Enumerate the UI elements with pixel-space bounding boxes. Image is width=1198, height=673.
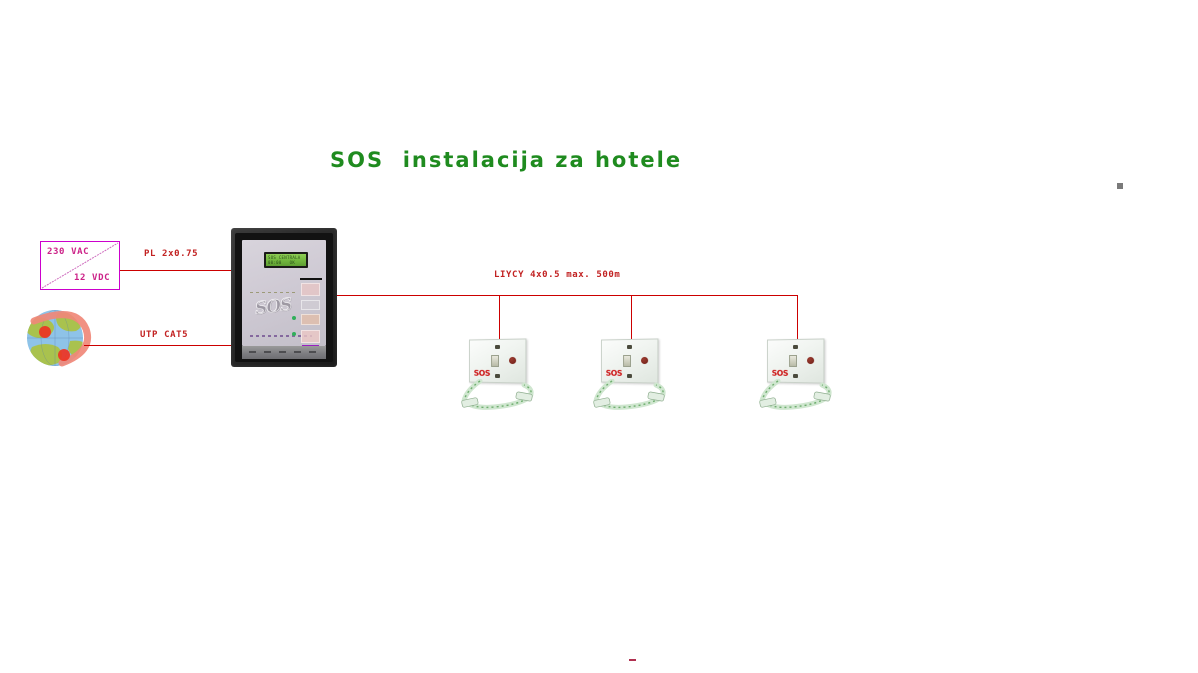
psu-input-voltage-label: 230 VAC (47, 247, 89, 257)
wire-bus-drop-2 (631, 295, 632, 339)
plate-screw-bottom-icon (793, 374, 798, 378)
plate-sos-label: SOS (772, 369, 788, 378)
diagram-canvas: SOS instalacija za hotele 230 VAC 12 VDC… (0, 0, 1198, 673)
wire-bus-drop-1 (499, 295, 500, 339)
keypad-button-2[interactable] (301, 300, 320, 310)
panel-sos-logo: SOS (254, 295, 293, 319)
wire-network-to-panel (84, 345, 232, 346)
plate-screw-top-icon (495, 345, 500, 349)
cord-jack[interactable] (623, 355, 631, 367)
wall-call-unit-2[interactable]: SOS (592, 335, 672, 413)
psu-output-voltage-label: 12 VDC (74, 273, 110, 283)
corner-marker-dot (1117, 183, 1123, 189)
vent-slot (249, 351, 256, 353)
wall-call-unit-1[interactable]: SOS (460, 335, 540, 413)
plate-screw-top-icon (793, 345, 798, 349)
cord-jack[interactable] (491, 355, 499, 367)
cable-label-network: UTP CAT5 (140, 330, 188, 340)
cable-label-power: PL 2x0.75 (144, 249, 198, 259)
keypad-button-1[interactable] (301, 283, 320, 296)
wall-plate: SOS (469, 338, 526, 383)
vent-slot (309, 351, 316, 353)
panel-keypad[interactable] (300, 283, 322, 345)
wire-power-to-panel (120, 270, 232, 271)
pull-cord-icon (758, 379, 838, 413)
plate-screw-top-icon (627, 345, 632, 349)
panel-faceplate: SOS CENTRALA 00:00 OK SOS (242, 240, 326, 346)
pull-cord-icon (460, 379, 540, 413)
emergency-button[interactable] (807, 357, 814, 364)
cable-label-bus: LIYCY 4x0.5 max. 500m (494, 270, 620, 280)
plate-sos-label: SOS (606, 369, 622, 378)
keypad-button-3[interactable] (301, 314, 320, 325)
plate-sos-label: SOS (474, 369, 490, 378)
panel-lcd-screen: SOS CENTRALA 00:00 OK (266, 254, 306, 266)
vent-slot (264, 351, 271, 353)
keypad-top-bar (300, 278, 322, 280)
plate-screw-bottom-icon (627, 374, 632, 378)
panel-guide-line-upper (250, 292, 295, 293)
bottom-marker-dash (629, 659, 636, 661)
vent-slot (279, 351, 286, 353)
pull-cord-icon (592, 379, 672, 413)
keypad-button-4[interactable] (301, 330, 320, 343)
sos-control-panel[interactable]: SOS CENTRALA 00:00 OK SOS (231, 228, 337, 367)
wall-plate: SOS (767, 338, 824, 383)
wall-plate: SOS (601, 338, 658, 383)
cord-jack[interactable] (789, 355, 797, 367)
status-led-2 (292, 332, 296, 336)
plate-screw-bottom-icon (495, 374, 500, 378)
wire-bus-drop-3 (797, 295, 798, 339)
emergency-button[interactable] (641, 357, 648, 364)
status-led-1 (292, 316, 296, 320)
panel-base-vent (242, 346, 326, 359)
power-supply-box: 230 VAC 12 VDC (40, 241, 120, 290)
page-title: SOS instalacija za hotele (330, 148, 682, 172)
panel-lcd-text-2: 00:00 OK (268, 260, 295, 265)
wire-bus-main (336, 295, 798, 296)
emergency-button[interactable] (509, 357, 516, 364)
panel-lcd-display: SOS CENTRALA 00:00 OK (264, 252, 308, 268)
vent-slot (294, 351, 301, 353)
wall-call-unit-3[interactable]: SOS (758, 335, 838, 413)
globe-network-icon (14, 307, 96, 369)
